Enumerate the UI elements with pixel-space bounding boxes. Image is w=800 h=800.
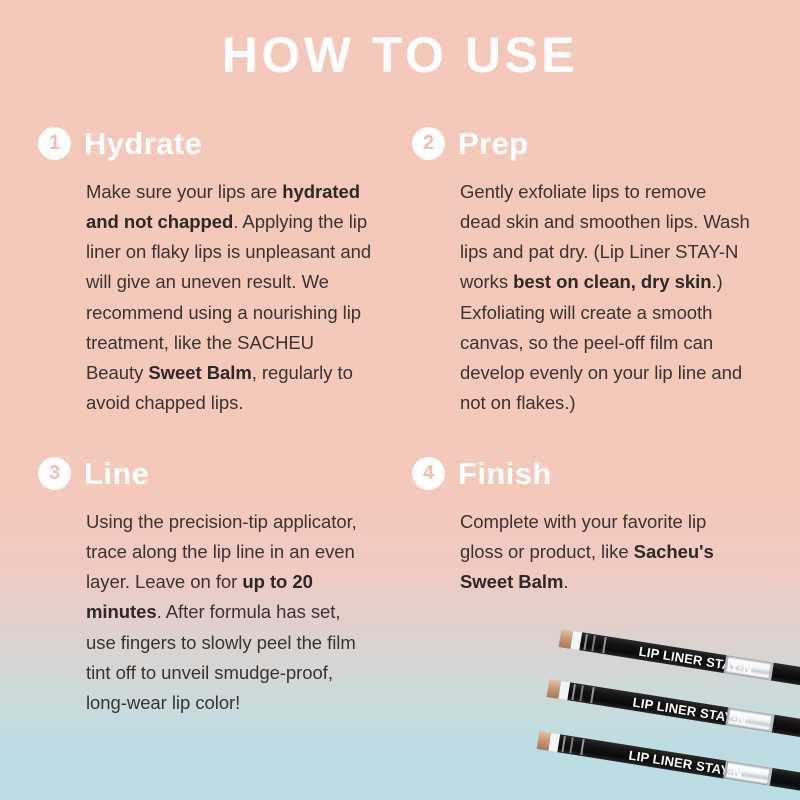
step-body: Using the precision-tip applicator, trac… <box>86 507 374 718</box>
step-1-header: 1 Hydrate <box>38 122 383 164</box>
step-2-header: 2 Prep <box>412 122 757 164</box>
page-title: HOW TO USE <box>0 30 800 80</box>
step-2: 2 Prep Gently exfoliate lips to remove d… <box>412 122 757 418</box>
step-body: Gently exfoliate lips to remove dead ski… <box>460 177 752 418</box>
svg-text:LIP LINER STAY-N: LIP LINER STAY-N <box>632 695 748 728</box>
step-title: Hydrate <box>84 128 202 159</box>
step-body: Complete with your favorite lip gloss or… <box>460 507 752 597</box>
step-number-badge: 1 <box>38 127 71 160</box>
step-title: Finish <box>458 458 552 489</box>
step-number-badge: 2 <box>412 127 445 160</box>
svg-text:LIP LINER STAY-N: LIP LINER STAY-N <box>628 747 744 780</box>
how-to-use-poster: HOW TO USE <box>0 0 800 800</box>
step-3-header: 3 Line <box>38 452 383 494</box>
step-body: Make sure your lips are hydrated and not… <box>86 177 374 418</box>
step-1: 1 Hydrate Make sure your lips are hydrat… <box>38 122 383 418</box>
step-number-badge: 3 <box>38 457 71 490</box>
svg-text:LIP LINER STAY-N: LIP LINER STAY-N <box>638 644 754 677</box>
step-3: 3 Line Using the precision-tip applicato… <box>38 452 383 718</box>
step-title: Line <box>84 458 149 489</box>
step-4-header: 4 Finish <box>412 452 757 494</box>
step-title: Prep <box>458 128 529 159</box>
step-4: 4 Finish Complete with your favorite lip… <box>412 452 757 597</box>
step-number-badge: 4 <box>412 457 445 490</box>
